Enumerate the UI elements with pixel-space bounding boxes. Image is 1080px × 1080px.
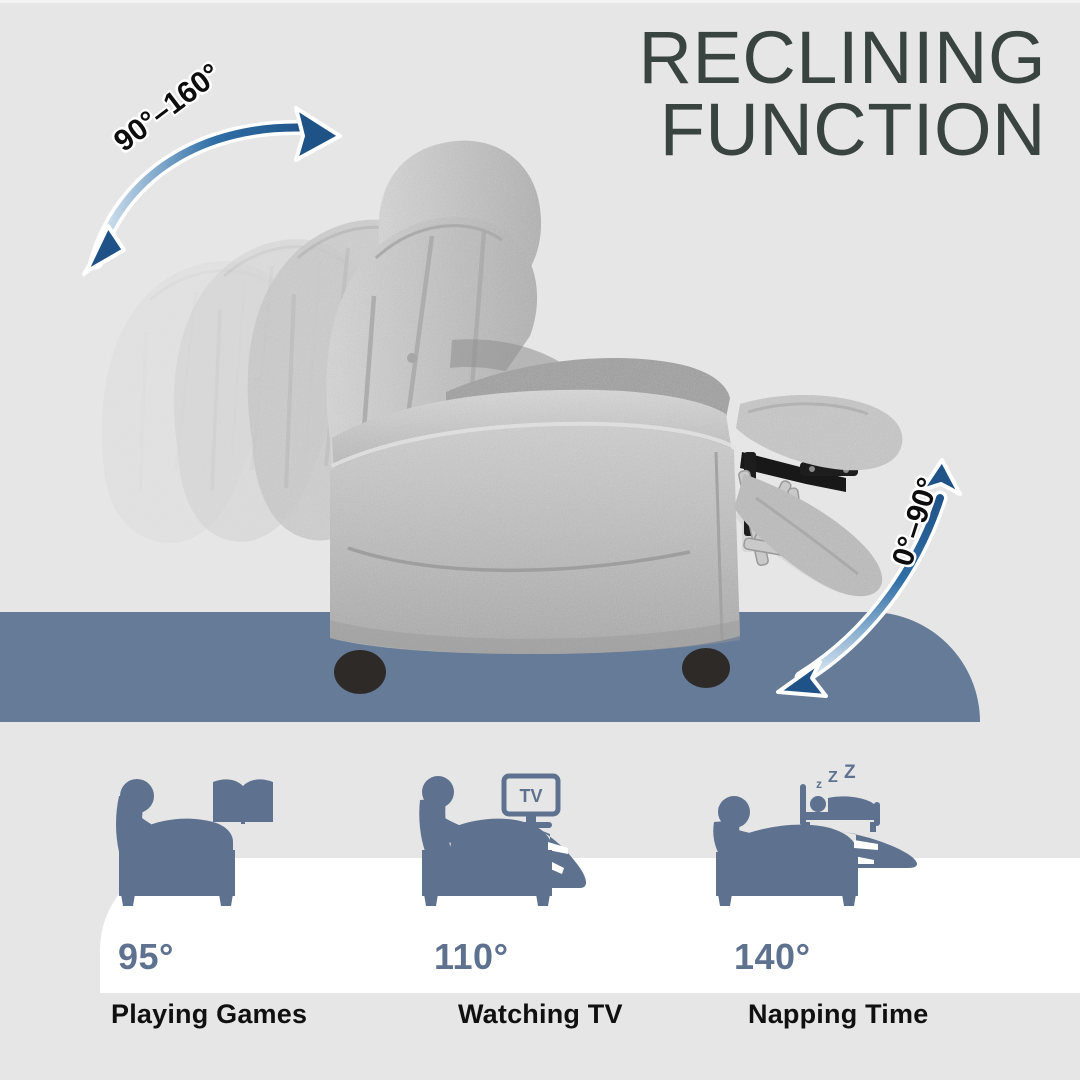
mode-angle-value: 95° bbox=[95, 936, 174, 978]
recliner-flat-icon: z Z Z bbox=[712, 756, 1012, 916]
mode-caption: Napping Time bbox=[748, 999, 928, 1030]
mode-caption: Watching TV bbox=[458, 999, 623, 1030]
svg-text:z: z bbox=[816, 777, 822, 791]
infographic-canvas: RECLINING FUNCTION bbox=[0, 0, 1080, 1080]
svg-text:TV: TV bbox=[519, 786, 542, 806]
mode-caption: Playing Games bbox=[111, 999, 307, 1030]
mode-card-watching-tv[interactable]: TV bbox=[412, 756, 712, 1080]
bed-sleep-icon: z Z Z bbox=[800, 762, 880, 832]
modes-row: 95° Playing Games TV bbox=[0, 756, 1080, 1080]
chair-foot-right bbox=[682, 648, 730, 688]
recliner-reclined-icon: TV bbox=[412, 756, 712, 916]
chair-foot-left bbox=[334, 650, 386, 694]
mode-angle-value: 140° bbox=[712, 936, 810, 978]
mode-angle-value: 110° bbox=[412, 936, 508, 978]
footrest-extended bbox=[734, 395, 902, 596]
mode-card-playing-games[interactable]: 95° Playing Games bbox=[95, 756, 395, 1080]
recliner-upright-icon bbox=[95, 756, 395, 916]
book-icon bbox=[213, 779, 273, 824]
svg-text:Z: Z bbox=[828, 769, 838, 786]
svg-text:Z: Z bbox=[844, 762, 856, 783]
mode-card-napping-time[interactable]: z Z Z bbox=[712, 756, 1012, 1080]
